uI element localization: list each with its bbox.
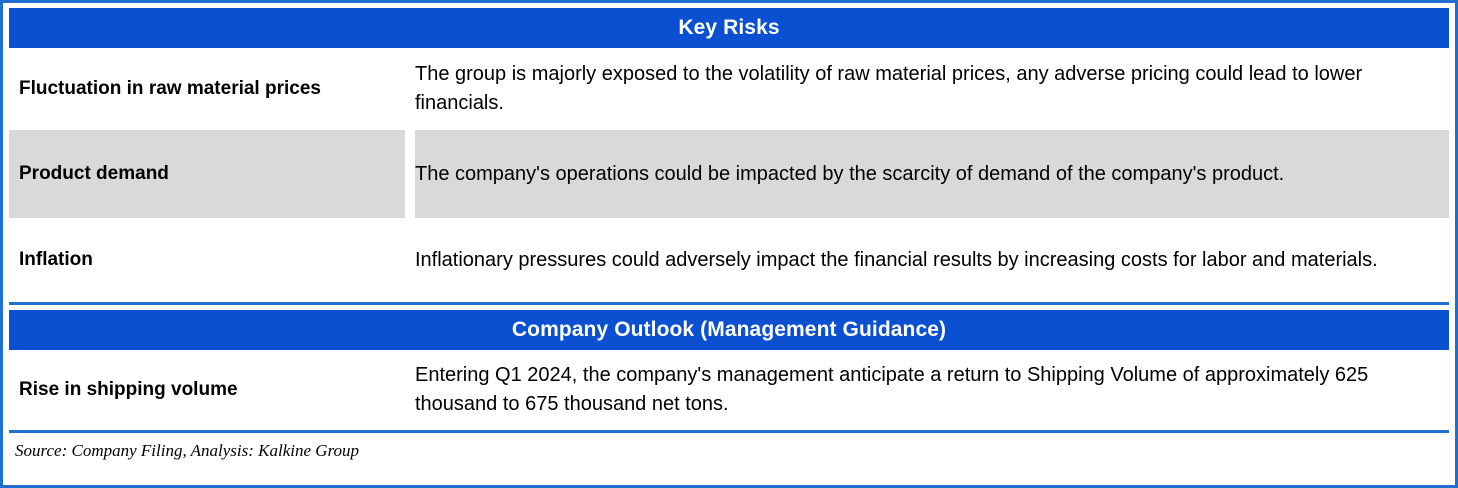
- column-gap: [405, 130, 415, 218]
- row-label: Fluctuation in raw material prices: [9, 48, 405, 130]
- source-text: Source: Company Filing, Analysis: Kalkin…: [15, 441, 1449, 461]
- table-row: Inflation Inflationary pressures could a…: [9, 218, 1449, 302]
- column-gap: [405, 350, 415, 430]
- table-row: Fluctuation in raw material prices The g…: [9, 48, 1449, 130]
- row-description: Entering Q1 2024, the company's manageme…: [415, 350, 1449, 430]
- row-label: Inflation: [9, 218, 405, 302]
- table-row: Rise in shipping volume Entering Q1 2024…: [9, 350, 1449, 430]
- column-gap: [405, 218, 415, 302]
- row-description: The company's operations could be impact…: [415, 130, 1449, 218]
- section-divider: [9, 302, 1449, 305]
- table-row: Product demand The company's operations …: [9, 130, 1449, 218]
- column-gap: [405, 48, 415, 130]
- section-header-key-risks: Key Risks: [9, 8, 1449, 48]
- table-inner: Key Risks Fluctuation in raw material pr…: [3, 3, 1455, 485]
- row-description: Inflationary pressures could adversely i…: [415, 218, 1449, 302]
- section-header-company-outlook: Company Outlook (Management Guidance): [9, 310, 1449, 350]
- risks-outlook-table: Key Risks Fluctuation in raw material pr…: [0, 0, 1458, 488]
- row-label: Product demand: [9, 130, 405, 218]
- row-label: Rise in shipping volume: [9, 350, 405, 430]
- row-description: The group is majorly exposed to the vola…: [415, 48, 1449, 130]
- source-footer: Source: Company Filing, Analysis: Kalkin…: [9, 433, 1449, 461]
